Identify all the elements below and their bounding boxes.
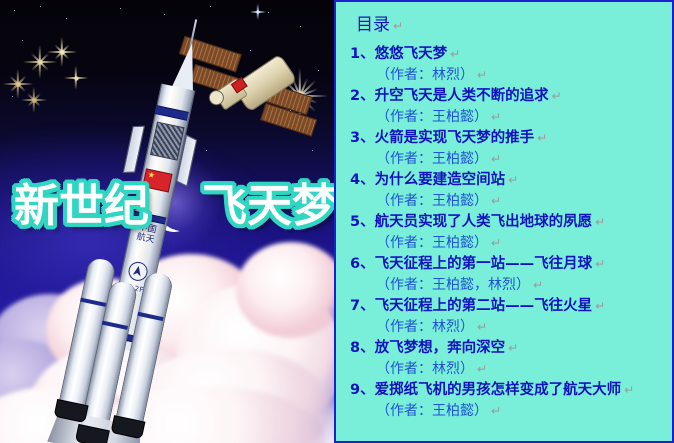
pilcrow-mark: ↵	[393, 19, 403, 33]
pilcrow-mark: ↵	[624, 383, 634, 397]
toc-item-title[interactable]: 6、飞天征程上的第一站——飞往月球↵	[350, 254, 666, 275]
rocket-fin	[123, 126, 145, 173]
pilcrow-mark: ↵	[552, 89, 562, 103]
slide-page: 中国航天 CZ-2F 新世纪 飞天梦 目录↵ 1、悠悠飞	[0, 0, 674, 443]
toc-item-author: （作者：王柏懿）↵	[376, 149, 666, 170]
toc-item-author-text: （作者：林烈）	[376, 361, 474, 377]
toc-item-author: （作者：王柏懿）↵	[376, 233, 666, 254]
pilcrow-mark: ↵	[491, 404, 501, 418]
toc-list: 1、悠悠飞天梦↵ （作者：林烈）↵ 2、升空飞天是人类不断的追求↵ （作者：王柏…	[346, 44, 666, 422]
toc-item[interactable]: 5、航天员实现了人类飞出地球的夙愿↵ （作者：王柏懿）↵	[346, 212, 666, 254]
toc-item-author: （作者：王柏懿，林烈）↵	[376, 275, 666, 296]
pilcrow-mark: ↵	[477, 320, 487, 334]
pilcrow-mark: ↵	[477, 362, 487, 376]
toc-item[interactable]: 6、飞天征程上的第一站——飞往月球↵ （作者：王柏懿，林烈）↵	[346, 254, 666, 296]
toc-item-title-text: 3、火箭是实现飞天梦的推手	[350, 130, 534, 146]
toc-item[interactable]: 8、放飞梦想，奔向深空↵ （作者：林烈）↵	[346, 338, 666, 380]
toc-item-title[interactable]: 7、飞天征程上的第二站——飞往火星↵	[350, 296, 666, 317]
pilcrow-mark: ↵	[595, 299, 605, 313]
toc-heading-text: 目录	[356, 15, 390, 35]
toc-item-title-text: 7、飞天征程上的第二站——飞往火星	[350, 298, 592, 314]
toc-item-author: （作者：王柏懿）↵	[376, 191, 666, 212]
pilcrow-mark: ↵	[450, 47, 460, 61]
pilcrow-mark: ↵	[533, 278, 543, 292]
toc-item-author: （作者：林烈）↵	[376, 359, 666, 380]
toc-item-author: （作者：林烈）↵	[376, 65, 666, 86]
toc-item-title-text: 4、为什么要建造空间站	[350, 172, 505, 188]
toc-item-author-text: （作者：王柏懿）	[376, 193, 488, 209]
toc-item-author-text: （作者：王柏懿，林烈）	[376, 277, 530, 293]
toc-item[interactable]: 3、火箭是实现飞天梦的推手↵ （作者：王柏懿）↵	[346, 128, 666, 170]
toc-item-title[interactable]: 1、悠悠飞天梦↵	[350, 44, 666, 65]
pilcrow-mark: ↵	[595, 257, 605, 271]
toc-item-author-text: （作者：王柏懿）	[376, 151, 488, 167]
toc-item-title-text: 5、航天员实现了人类飞出地球的夙愿	[350, 214, 592, 230]
toc-item-author-text: （作者：王柏懿）	[376, 109, 488, 125]
pilcrow-mark: ↵	[508, 173, 518, 187]
toc-item-title[interactable]: 5、航天员实现了人类飞出地球的夙愿↵	[350, 212, 666, 233]
toc-item-title[interactable]: 9、爱掷纸飞机的男孩怎样变成了航天大师↵	[350, 380, 666, 401]
pilcrow-mark: ↵	[537, 131, 547, 145]
toc-item-title-text: 6、飞天征程上的第一站——飞往月球	[350, 256, 592, 272]
toc-item-title-text: 2、升空飞天是人类不断的追求	[350, 88, 549, 104]
pilcrow-mark: ↵	[508, 341, 518, 355]
toc-item-author-text: （作者：林烈）	[376, 67, 474, 83]
pilcrow-mark: ↵	[595, 215, 605, 229]
toc-item-author-text: （作者：林烈）	[376, 319, 474, 335]
toc-item-author-text: （作者：王柏懿）	[376, 235, 488, 251]
toc-item-title-text: 9、爱掷纸飞机的男孩怎样变成了航天大师	[350, 382, 621, 398]
toc-item[interactable]: 1、悠悠飞天梦↵ （作者：林烈）↵	[346, 44, 666, 86]
toc-item-author: （作者：王柏懿）↵	[376, 401, 666, 422]
pilcrow-mark: ↵	[491, 110, 501, 124]
toc-item-title[interactable]: 2、升空飞天是人类不断的追求↵	[350, 86, 666, 107]
pilcrow-mark: ↵	[477, 68, 487, 82]
rocket-nosecone	[171, 41, 202, 93]
toc-item-title[interactable]: 3、火箭是实现飞天梦的推手↵	[350, 128, 666, 149]
toc-item-title-text: 8、放飞梦想，奔向深空	[350, 340, 505, 356]
toc-heading: 目录↵	[356, 14, 666, 37]
toc-item[interactable]: 7、飞天征程上的第二站——飞往火星↵ （作者：林烈）↵	[346, 296, 666, 338]
toc-item-author-text: （作者：王柏懿）	[376, 403, 488, 419]
pilcrow-mark: ↵	[491, 152, 501, 166]
toc-item-title-text: 1、悠悠飞天梦	[350, 46, 447, 62]
table-of-contents-panel: 目录↵ 1、悠悠飞天梦↵ （作者：林烈）↵ 2、升空飞天是人类不断的追求↵ （作…	[334, 0, 674, 443]
cover-artwork: 中国航天 CZ-2F 新世纪 飞天梦	[0, 0, 334, 443]
toc-item-title[interactable]: 4、为什么要建造空间站↵	[350, 170, 666, 191]
pilcrow-mark: ↵	[491, 194, 501, 208]
toc-item[interactable]: 4、为什么要建造空间站↵ （作者：王柏懿）↵	[346, 170, 666, 212]
toc-item-author: （作者：王柏懿）↵	[376, 107, 666, 128]
toc-item[interactable]: 2、升空飞天是人类不断的追求↵ （作者：王柏懿）↵	[346, 86, 666, 128]
toc-item-author: （作者：林烈）↵	[376, 317, 666, 338]
toc-item-title[interactable]: 8、放飞梦想，奔向深空↵	[350, 338, 666, 359]
pilcrow-mark: ↵	[491, 236, 501, 250]
toc-item[interactable]: 9、爱掷纸飞机的男孩怎样变成了航天大师↵ （作者：王柏懿）↵	[346, 380, 666, 422]
